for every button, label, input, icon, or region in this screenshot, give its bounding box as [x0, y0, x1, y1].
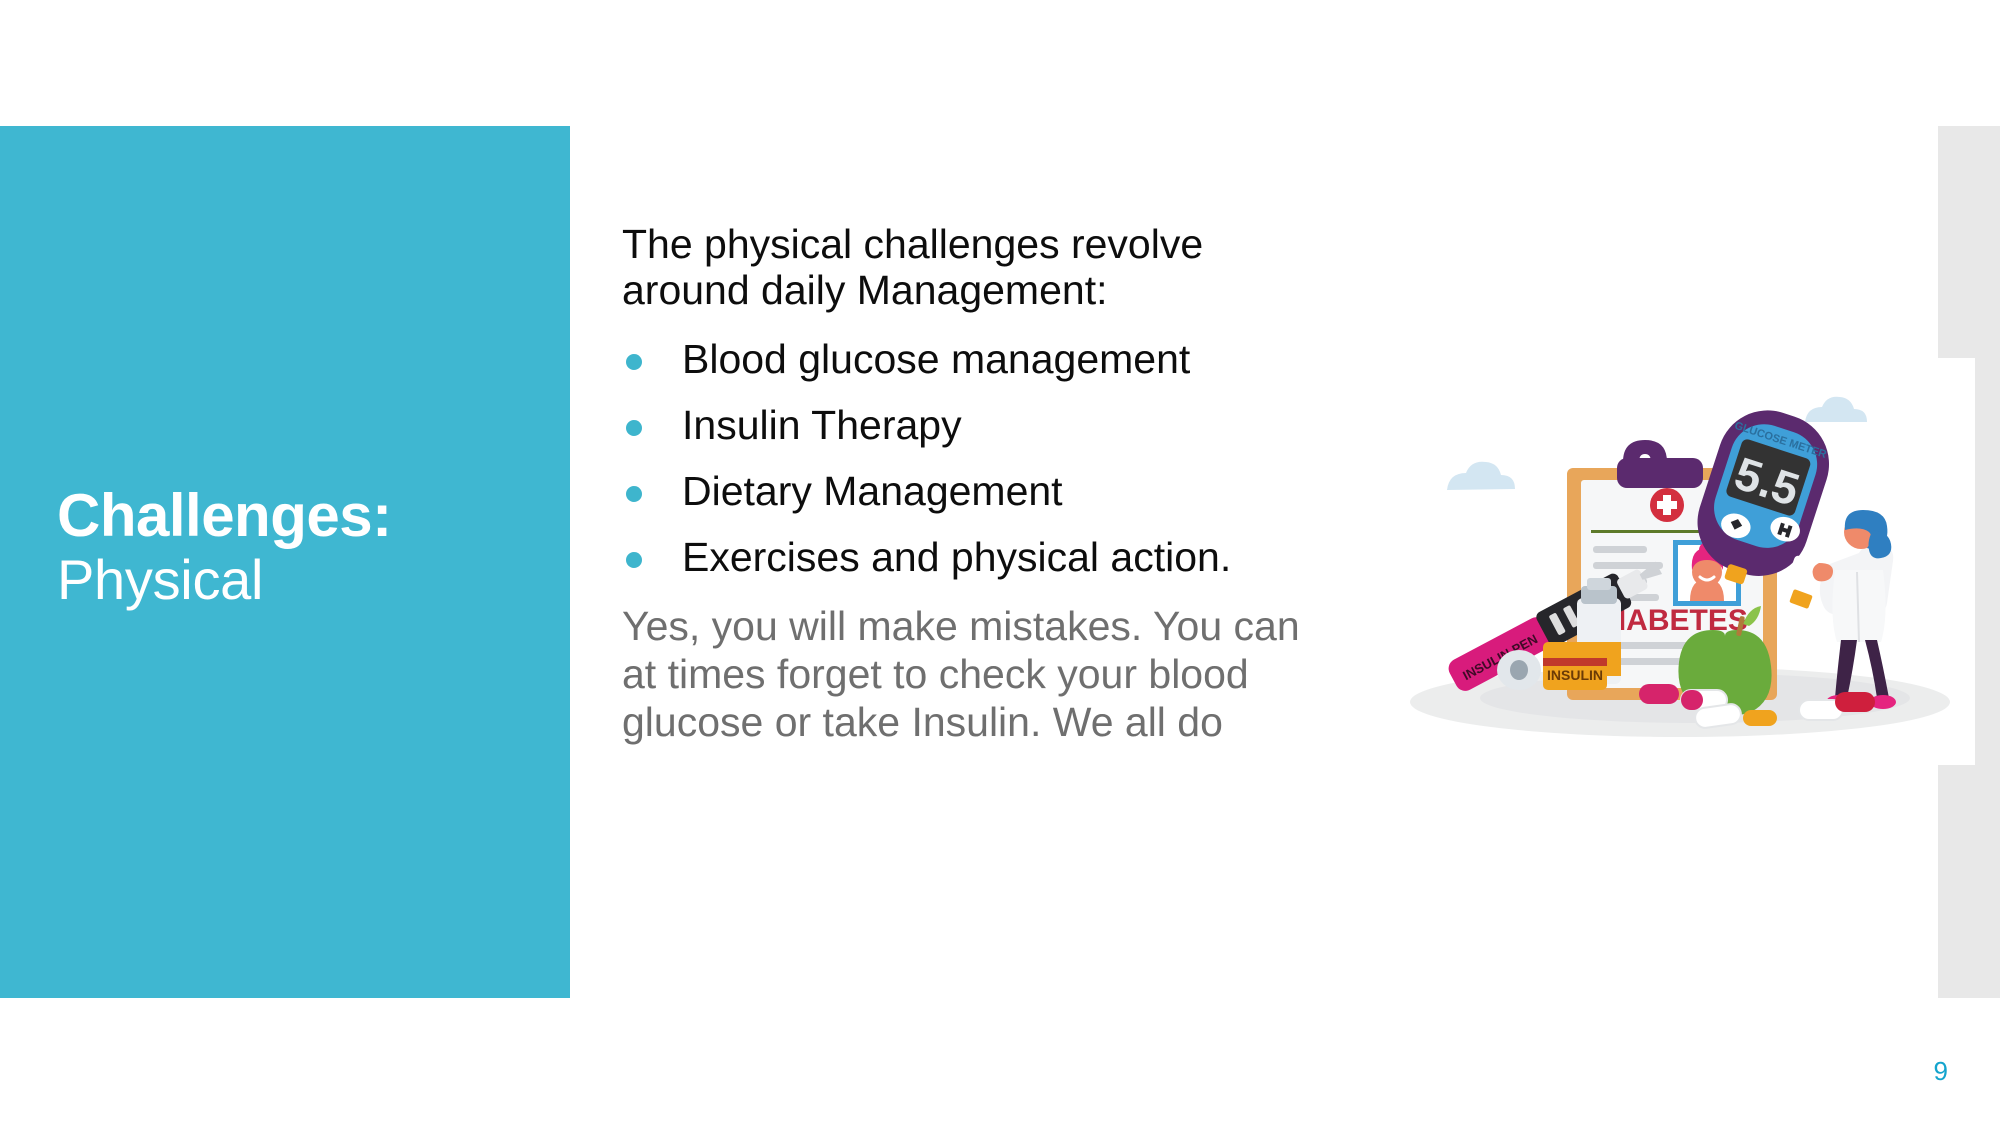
list-item-label: Insulin Therapy: [682, 402, 962, 448]
list-item: Insulin Therapy: [622, 403, 1322, 449]
edge-bar-middle: [1975, 358, 2000, 765]
insulin-vial-label: INSULIN: [1547, 667, 1603, 683]
bullet-dot-icon: [626, 354, 642, 370]
page-title: Challenges: Physical: [57, 484, 527, 612]
edge-bar-top: [1938, 126, 2000, 358]
body-content: The physical challenges revolve around d…: [622, 222, 1322, 747]
list-item: Exercises and physical action.: [622, 535, 1322, 581]
bullet-list: Blood glucose management Insulin Therapy…: [622, 337, 1322, 581]
title-panel: Challenges: Physical: [0, 126, 570, 998]
page-number: 9: [1934, 1056, 1948, 1087]
list-item: Dietary Management: [622, 469, 1322, 515]
intro-paragraph: The physical challenges revolve around d…: [622, 222, 1322, 313]
closing-paragraph: Yes, you will make mistakes. You can at …: [622, 603, 1322, 747]
bullet-dot-icon: [626, 486, 642, 502]
list-item: Blood glucose management: [622, 337, 1322, 383]
diabetes-management-illustration: DIABETES 5.5 GLUCOSE METER: [1395, 380, 1965, 750]
list-item-label: Exercises and physical action.: [682, 534, 1231, 580]
list-item-label: Dietary Management: [682, 468, 1063, 514]
edge-bar-bottom: [1938, 765, 2000, 998]
bullet-dot-icon: [626, 552, 642, 568]
slide: Challenges: Physical The physical challe…: [0, 0, 2000, 1125]
insulin-vial-front: INSULIN: [1543, 642, 1607, 690]
vial-cap: [1497, 650, 1541, 690]
title-line-primary: Challenges:: [57, 484, 527, 549]
list-item-label: Blood glucose management: [682, 336, 1190, 382]
title-line-secondary: Physical: [57, 549, 527, 612]
bullet-dot-icon: [626, 420, 642, 436]
